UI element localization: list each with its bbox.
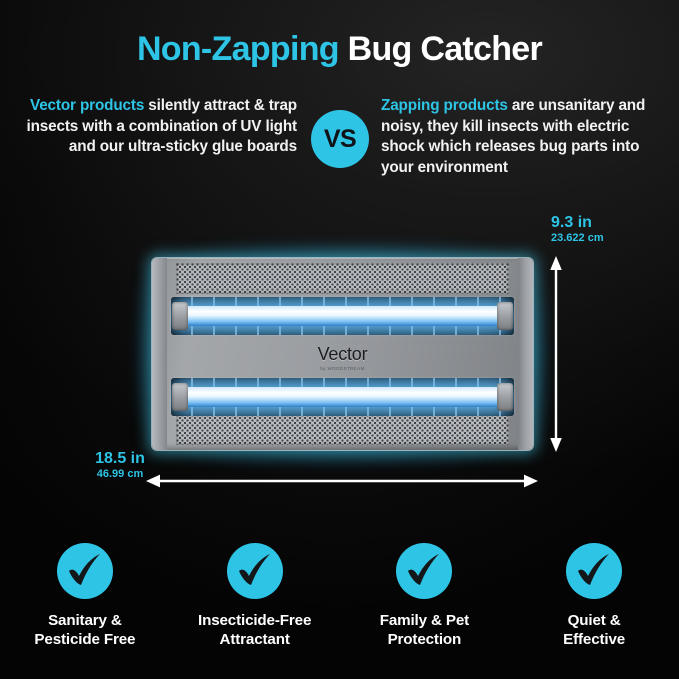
page-title: Non-Zapping Bug Catcher xyxy=(0,30,679,69)
uv-tube-bay-upper xyxy=(171,297,514,335)
feature-item: Quiet & Effective xyxy=(509,543,679,649)
comparison-right: Zapping products are unsanitary and nois… xyxy=(381,96,662,178)
feature-item: Family & Pet Protection xyxy=(340,543,510,649)
feature-item: Insecticide-Free Attractant xyxy=(170,543,340,649)
dimension-height-metric: 23.622 cm xyxy=(551,232,604,244)
check-icon xyxy=(566,543,622,599)
dimension-width-imperial: 18.5 in xyxy=(60,450,180,468)
feature-label: Insecticide-Free Attractant xyxy=(170,611,340,649)
feature-list: Sanitary & Pesticide Free Insecticide-Fr… xyxy=(0,543,679,649)
product-brand-sublogo: by WOODSTREAM xyxy=(152,366,533,371)
check-icon xyxy=(57,543,113,599)
feature-item: Sanitary & Pesticide Free xyxy=(0,543,170,649)
title-accent: Non-Zapping xyxy=(137,30,339,68)
tube-cap-upper-right xyxy=(497,302,513,330)
tube-cap-lower-left xyxy=(172,383,188,411)
product-infographic: Non-Zapping Bug Catcher Vector products … xyxy=(0,0,679,679)
comparison-left-lead: Vector products xyxy=(30,97,144,114)
product-brand-logo: Vector xyxy=(152,344,533,365)
title-rest: Bug Catcher xyxy=(339,30,542,68)
feature-label: Quiet & Effective xyxy=(509,611,679,649)
tube-cap-upper-left xyxy=(172,302,188,330)
device-mesh-top xyxy=(176,263,509,294)
check-icon xyxy=(227,543,283,599)
device-mesh-bottom xyxy=(176,414,509,445)
dimension-height-label: 9.3 in 23.622 cm xyxy=(551,214,604,244)
comparison-left: Vector products silently attract & trap … xyxy=(22,96,297,158)
uv-tube-lower xyxy=(177,387,508,407)
tube-cap-lower-right xyxy=(497,383,513,411)
dimension-height-imperial: 9.3 in xyxy=(551,214,604,232)
vs-badge: VS xyxy=(311,110,369,168)
device-body: Vector by WOODSTREAM xyxy=(152,258,533,450)
product-image: Vector by WOODSTREAM xyxy=(152,258,533,450)
feature-label: Sanitary & Pesticide Free xyxy=(0,611,170,649)
uv-tube-upper xyxy=(177,306,508,326)
dimension-width-arrow xyxy=(146,472,538,490)
check-icon xyxy=(396,543,452,599)
feature-label: Family & Pet Protection xyxy=(340,611,510,649)
uv-tube-bay-lower xyxy=(171,378,514,416)
dimension-height-arrow xyxy=(549,256,563,452)
comparison-right-lead: Zapping products xyxy=(381,97,508,114)
